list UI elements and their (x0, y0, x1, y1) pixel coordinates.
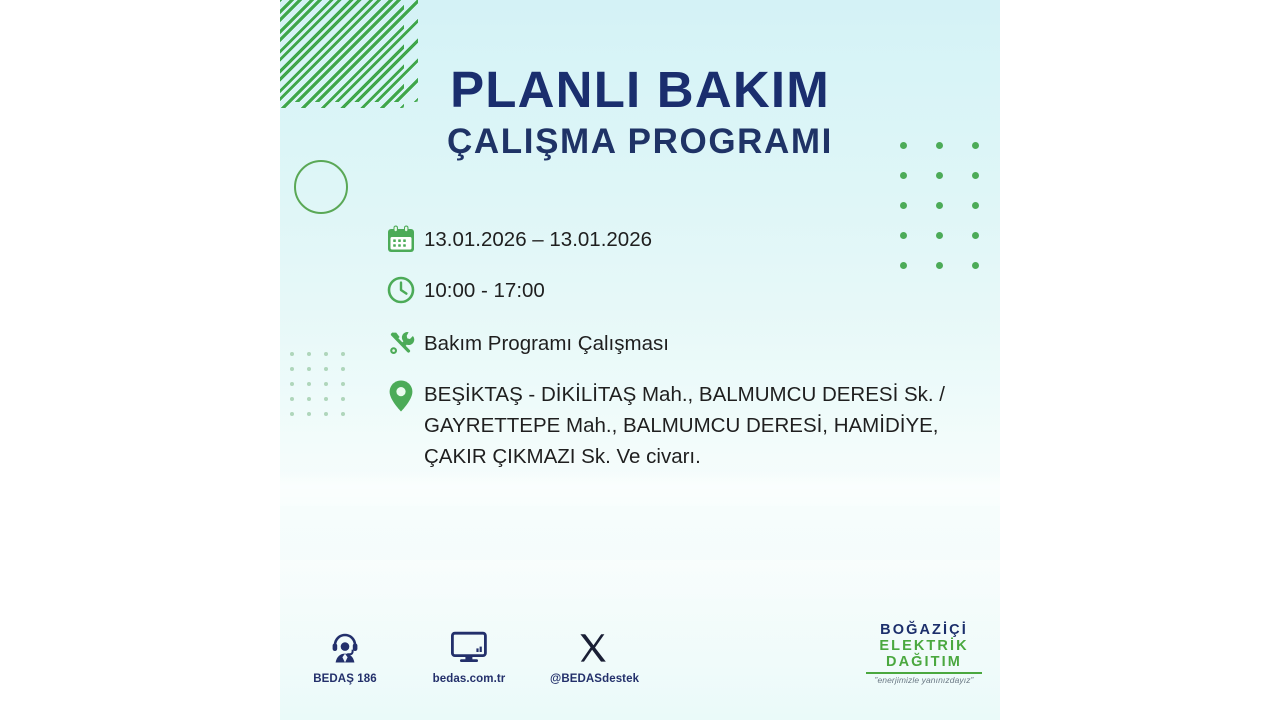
logo-divider (866, 672, 982, 674)
info-row-date: 13.01.2026 – 13.01.2026 (378, 222, 988, 255)
monitor-icon (426, 624, 512, 664)
work-type-text: Bakım Programı Çalışması (424, 326, 669, 359)
contact-twitter[interactable]: @BEDASdestek (550, 624, 636, 685)
info-rows: 13.01.2026 – 13.01.2026 10:00 - 17:00 (378, 222, 988, 488)
contact-list: BEDAŞ 186 beda (302, 624, 636, 685)
circle-outline-decoration (294, 160, 348, 214)
location-pin-icon (378, 377, 424, 413)
time-range-text: 10:00 - 17:00 (424, 273, 545, 306)
logo-line-dagitim: DAĞITIM (864, 654, 984, 670)
poster-footer: BEDAŞ 186 beda (280, 622, 1000, 702)
contact-website[interactable]: bedas.com.tr (426, 624, 512, 685)
contact-twitter-label: @BEDASdestek (550, 673, 636, 685)
background-band-decoration-lower (280, 560, 1000, 630)
screenshot-root: PLANLI BAKIM ÇALIŞMA PROGRAMI (0, 0, 1280, 720)
page-title: PLANLI BAKIM (280, 64, 1000, 115)
poster-heading: PLANLI BAKIM ÇALIŞMA PROGRAMI (280, 64, 1000, 159)
poster-panel: PLANLI BAKIM ÇALIŞMA PROGRAMI (280, 0, 1000, 720)
headset-support-icon (302, 624, 388, 664)
page-subtitle: ÇALIŞMA PROGRAMI (280, 124, 1000, 159)
logo-line-elektrik: ELEKTRİK (864, 638, 984, 654)
location-text: BEŞİKTAŞ - DİKİLİTAŞ Mah., BALMUMCU DERE… (424, 377, 988, 472)
logo-line-bogazici: BOĞAZİÇİ (864, 622, 984, 638)
contact-phone[interactable]: BEDAŞ 186 (302, 624, 388, 685)
contact-phone-label: BEDAŞ 186 (302, 673, 388, 685)
contact-website-label: bedas.com.tr (426, 673, 512, 685)
tools-icon (378, 326, 424, 358)
dot-grid-left-decoration (290, 352, 358, 427)
calendar-icon (378, 222, 424, 254)
info-row-time: 10:00 - 17:00 (378, 273, 988, 306)
clock-icon (378, 273, 424, 305)
logo-tagline: ”enerjimizle yanınızdayız” (864, 675, 984, 685)
info-row-location: BEŞİKTAŞ - DİKİLİTAŞ Mah., BALMUMCU DERE… (378, 377, 988, 472)
x-twitter-icon (550, 624, 636, 664)
info-row-work-type: Bakım Programı Çalışması (378, 326, 988, 359)
date-range-text: 13.01.2026 – 13.01.2026 (424, 222, 652, 255)
bedas-logo: BOĞAZİÇİ ELEKTRİK DAĞITIM ”enerjimizle y… (864, 622, 984, 685)
